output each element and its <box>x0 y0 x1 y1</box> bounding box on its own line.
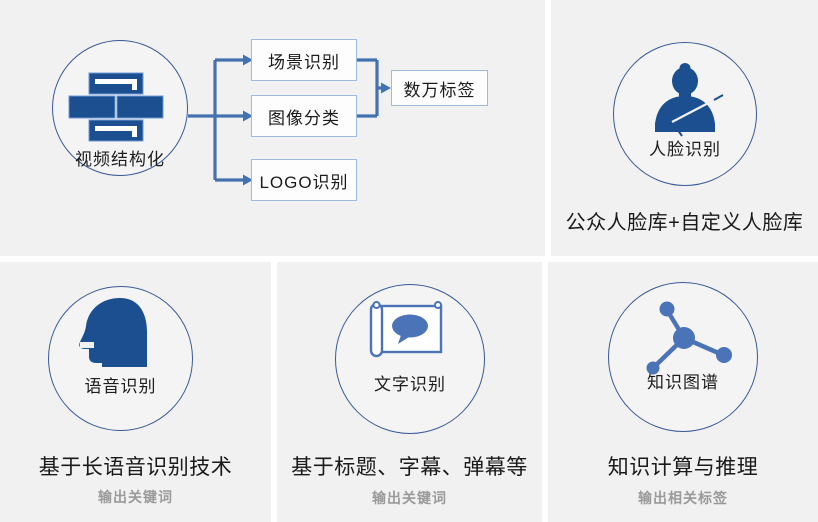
panel-face-recognition: 人脸识别 公众人脸库+自定义人脸库 <box>551 0 818 256</box>
caption-speech-recognition: 基于长语音识别技术 <box>0 451 271 481</box>
infographic-root: 视频结构化 <box>0 0 818 522</box>
subcaption-text-recognition: 输出关键词 <box>277 488 542 508</box>
panel-knowledge-graph: 知识图谱 知识计算与推理 输出相关标签 <box>548 262 818 522</box>
flow-node-scene[interactable]: 场景识别 <box>251 39 357 81</box>
flow-node-logo[interactable]: LOGO识别 <box>251 159 357 201</box>
subcaption-knowledge-graph: 输出相关标签 <box>548 488 818 508</box>
caption-face-recognition: 公众人脸库+自定义人脸库 <box>551 206 818 235</box>
caption-text-recognition: 基于标题、字幕、弹幕等 <box>277 451 542 481</box>
flow-node-image[interactable]: 图像分类 <box>251 95 357 137</box>
circle-label-knowledge-graph: 知识图谱 <box>608 368 758 393</box>
subcaption-speech-recognition: 输出关键词 <box>0 487 271 507</box>
panel-video-structuring: 视频结构化 <box>0 0 545 256</box>
circle-label-text-recognition: 文字识别 <box>335 370 485 395</box>
arrow-head-tags <box>381 83 391 94</box>
circle-label-face-recognition: 人脸识别 <box>613 135 757 160</box>
circle-label-speech-recognition: 语音识别 <box>48 372 193 397</box>
flow-node-tags[interactable]: 数万标签 <box>391 70 488 106</box>
panel-text-recognition: 文字识别 基于标题、字幕、弹幕等 输出关键词 <box>277 262 542 522</box>
caption-knowledge-graph: 知识计算与推理 <box>548 451 818 481</box>
panel-speech-recognition: 语音识别 基于长语音识别技术 输出关键词 <box>0 262 271 522</box>
